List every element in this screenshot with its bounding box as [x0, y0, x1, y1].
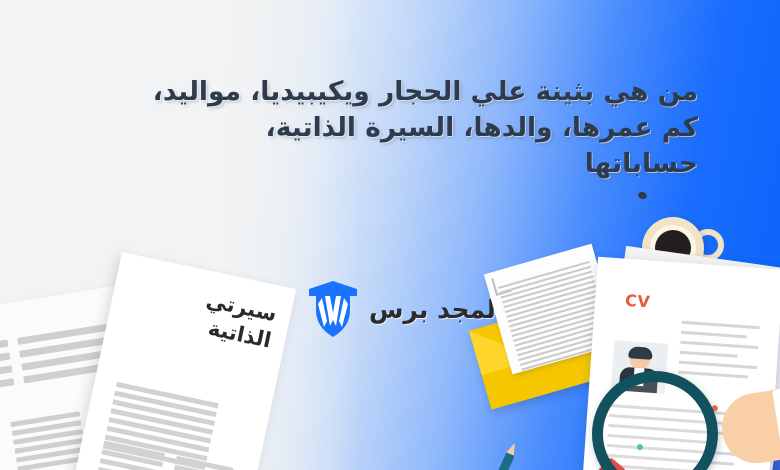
photo-hair [628, 346, 653, 360]
cv-label: CV [624, 291, 650, 312]
resume-lines-top [678, 321, 760, 379]
cv-illustration: CV [470, 195, 780, 470]
shield-logo-icon [305, 280, 361, 338]
paper-text-block-left [0, 340, 15, 392]
headline-line-2: كم عمرها، والدها، السيرة الذاتية، [86, 110, 698, 146]
cv-cover-title: سيرتي الذاتية [121, 271, 279, 355]
headline-line-3: حساباتها [86, 146, 698, 182]
paper-text-block-bottom-a [10, 411, 87, 470]
page-title: من هي بثينة علي الحجار ويكيبيديا، مواليد… [86, 74, 698, 182]
headline-line-1: من هي بثينة علي الحجار ويكيبيديا، مواليد… [86, 74, 698, 110]
article-featured-image: من هي بثينة علي الحجار ويكيبيديا، مواليد… [0, 0, 780, 470]
